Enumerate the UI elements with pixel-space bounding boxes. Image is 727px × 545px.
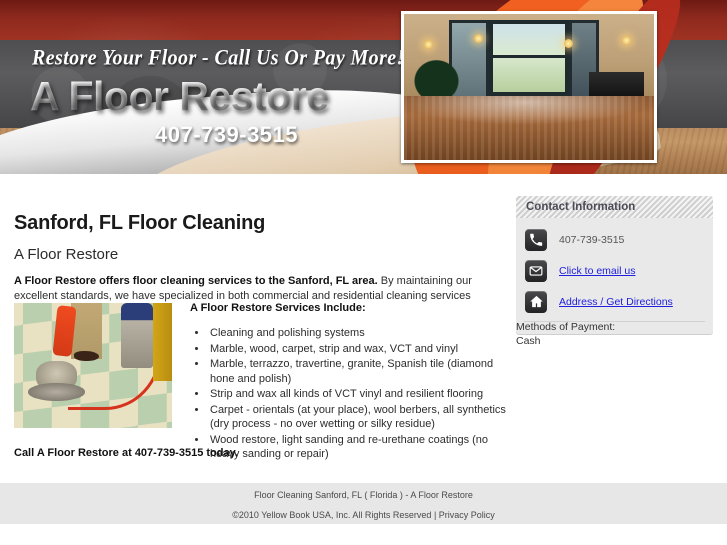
envelope-icon [525,260,547,282]
privacy-policy-link[interactable]: Privacy Policy [439,510,495,520]
service-photo-pad [28,383,85,401]
list-item: Wood restore, light sanding and re-ureth… [208,433,508,462]
call-to-action: Call A Floor Restore at 407-739-3515 tod… [14,447,238,459]
contact-phone-text: 407-739-3515 [559,234,624,246]
list-item: Cleaning and polishing systems [208,326,508,341]
hero-photo [401,11,657,163]
page-root: Restore Your Floor - Call Us Or Pay More… [0,0,727,545]
banner-tagline: Restore Your Floor - Call Us Or Pay More… [32,46,405,72]
payment-value: Cash [516,334,615,348]
hero-door-open [489,20,569,96]
hero-floor [404,96,654,160]
house-icon [525,291,547,313]
methods-of-payment: Methods of Payment: Cash [516,320,615,348]
contact-information-box: Contact Information 407-739-3515 [516,196,713,334]
site-banner: Restore Your Floor - Call Us Or Pay More… [0,0,727,174]
contact-row-address[interactable]: Address / Get Directions [516,286,713,317]
services-list: Cleaning and polishing systems Marble, w… [190,326,508,463]
list-item: Carpet - orientals (at your place), wool… [208,403,508,432]
hero-sconce-right2 [622,36,631,45]
list-item: Marble, terrazzo, travertine, granite, S… [208,357,508,386]
service-photo-cabinet [153,303,172,381]
services-title: A Floor Restore Services Include: [190,302,366,314]
contact-box-heading: Contact Information [516,196,713,218]
payment-label: Methods of Payment: [516,320,615,334]
service-photo-drum [121,303,153,368]
hero-bench [589,72,644,95]
footer-site-line: Floor Cleaning Sanford, FL ( Florida ) -… [0,483,727,500]
page-subtitle: A Floor Restore [14,246,118,263]
contact-row-email[interactable]: Click to email us [516,255,713,286]
email-us-link[interactable]: Click to email us [559,265,635,277]
service-photo-shoe [74,351,99,361]
banner-phone: 407-739-3515 [155,122,298,148]
banner-business-name: A Floor Restore [30,73,329,120]
service-photo [14,303,172,428]
contact-rows: 407-739-3515 Click to email us [516,218,713,317]
list-item: Marble, wood, carpet, strip and wax, VCT… [208,342,508,357]
list-item: Strip and wax all kinds of VCT vinyl and… [208,387,508,402]
footer-copyright-text: ©2010 Yellow Book USA, Inc. All Rights R… [232,510,439,520]
intro-bold-text: A Floor Restore offers floor cleaning se… [14,275,378,287]
footer-copyright-line: ©2010 Yellow Book USA, Inc. All Rights R… [0,500,727,520]
phone-icon [525,229,547,251]
address-directions-link[interactable]: Address / Get Directions [559,296,673,308]
hero-sconce-right1 [564,39,573,48]
site-footer: Floor Cleaning Sanford, FL ( Florida ) -… [0,483,727,524]
contact-row-phone: 407-739-3515 [516,224,713,255]
page-title: Sanford, FL Floor Cleaning [14,212,265,235]
